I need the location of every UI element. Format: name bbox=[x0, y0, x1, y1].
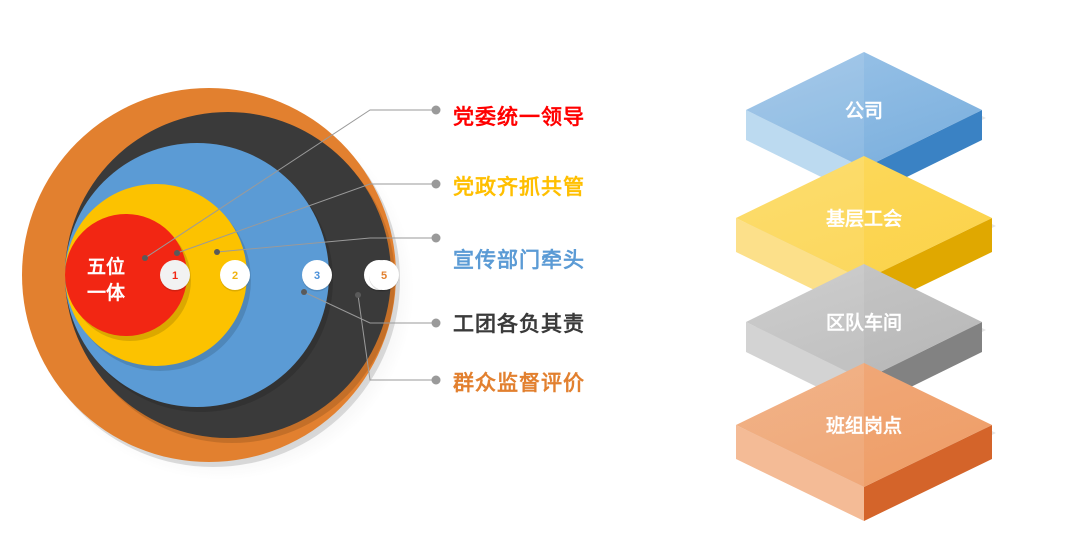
diagram-canvas: 五位一体 12345 党委统一领导党政齐抓共管宣传部门牵头工团各负其责群众监督评… bbox=[0, 0, 1080, 536]
stack-layer-label-4: 班组岗点 bbox=[826, 414, 902, 437]
stack-layer-label-2: 基层工会 bbox=[825, 207, 902, 230]
stack-layer-label-3: 区队车间 bbox=[826, 311, 902, 334]
isometric-stack-svg: 公司基层工会区队车间班组岗点 bbox=[0, 0, 1080, 536]
stack-layer-label-1: 公司 bbox=[845, 100, 883, 122]
stack-layer-4[interactable]: 班组岗点 bbox=[736, 363, 996, 521]
